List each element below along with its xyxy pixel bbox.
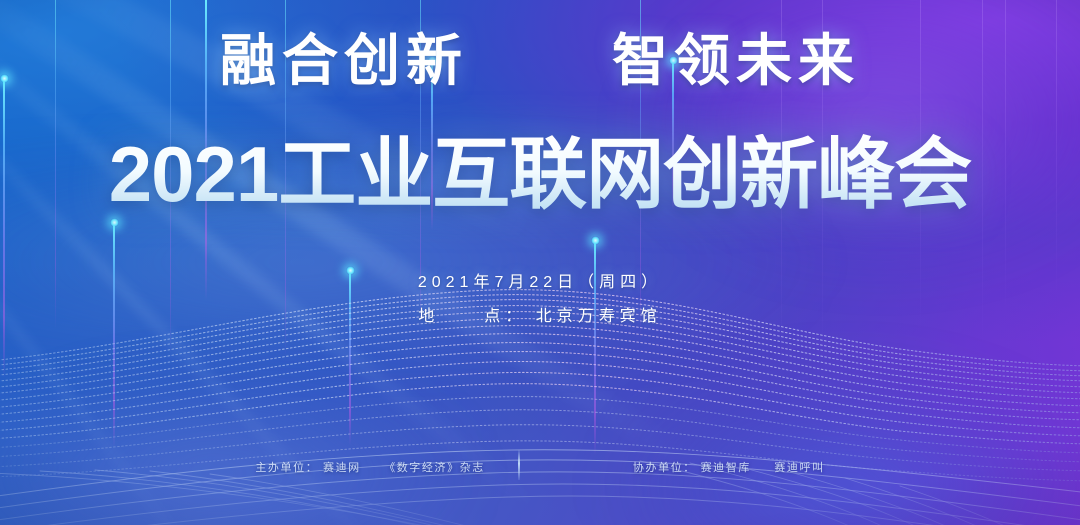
poster-title: 2021工业互联网创新峰会	[0, 134, 1080, 216]
bottom-left-haze	[0, 347, 540, 525]
poster-tagline: 融合创新 智领未来	[0, 34, 1080, 90]
credits-row: 主办单位： 赛迪网 《数字经济》杂志 协办单位： 赛迪智库 赛迪呼叫	[0, 459, 1080, 475]
tagline-right-text: 智领未来	[612, 31, 860, 93]
event-location: 地 点： 北京万寿宾馆	[0, 302, 1080, 326]
event-poster: 融合创新 智领未来 2021工业互联网创新峰会 2021年7月22日（周四） 地…	[0, 0, 1080, 525]
cohost-label: 协办单位：	[633, 462, 696, 474]
bottom-right-haze	[551, 341, 1080, 525]
cohost-credit: 协办单位： 赛迪智库 赛迪呼叫	[633, 459, 825, 475]
bar-glow-dot-icon	[110, 218, 119, 227]
cohost-org-2: 赛迪呼叫	[774, 462, 824, 474]
light-bar-icon	[3, 78, 5, 378]
cohost-org-1: 赛迪智库	[701, 462, 751, 474]
location-value: 北京万寿宾馆	[536, 308, 662, 325]
host-label: 主办单位：	[255, 462, 318, 474]
location-label-char: 地	[418, 308, 439, 325]
tagline-left-text: 融合创新	[220, 31, 468, 93]
light-bar-icon	[349, 270, 351, 445]
host-org-1: 赛迪网	[323, 462, 361, 474]
bar-glow-dot-icon	[591, 236, 600, 245]
light-bar-icon	[113, 222, 115, 447]
host-credit: 主办单位： 赛迪网 《数字经济》杂志	[255, 459, 485, 475]
location-label-rest: 点：	[484, 308, 526, 325]
event-date: 2021年7月22日（周四）	[0, 268, 1080, 292]
host-org-2: 《数字经济》杂志	[384, 462, 485, 474]
